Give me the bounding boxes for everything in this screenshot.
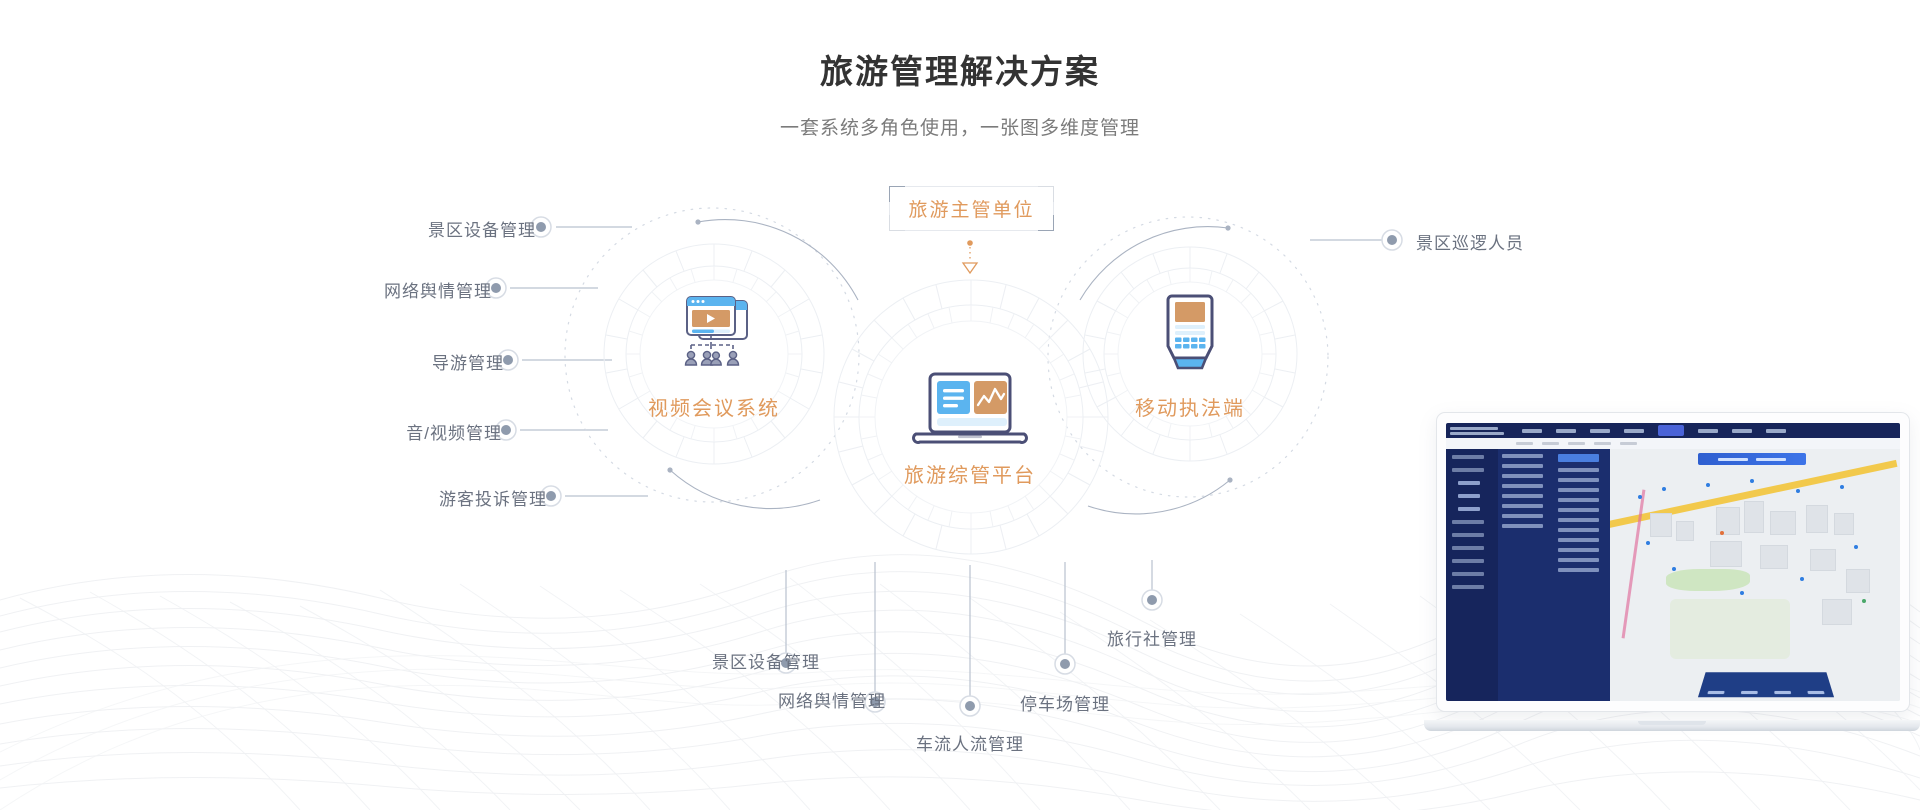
laptop-mockup [1424, 412, 1920, 757]
layer-item[interactable] [1558, 548, 1599, 552]
badge-corner-top-right [1037, 186, 1054, 203]
layer-item[interactable] [1558, 488, 1599, 492]
sidebar-item[interactable] [1458, 481, 1480, 485]
video-conference-icon [675, 295, 759, 380]
sidebar-item[interactable] [1452, 585, 1484, 589]
laptop-dashboard-icon [908, 372, 1032, 455]
dock-item[interactable] [1741, 691, 1758, 694]
layer-item[interactable] [1558, 468, 1599, 472]
sidebar-item[interactable] [1452, 455, 1484, 459]
layer-list-column [1554, 449, 1610, 701]
layer-item[interactable] [1558, 568, 1599, 572]
dock-item[interactable] [1774, 691, 1791, 694]
nav-item[interactable] [1522, 429, 1542, 433]
sidebar-item[interactable] [1452, 468, 1484, 472]
label-left-tour-guide: 导游管理 [308, 349, 504, 374]
dashboard-layer-panel [1498, 449, 1610, 701]
dashboard-body [1446, 449, 1900, 701]
dashboard-tab[interactable] [1620, 442, 1637, 445]
layer-tree-column [1498, 449, 1554, 701]
nav-item[interactable] [1590, 429, 1610, 433]
dashboard-sidebar [1446, 449, 1498, 701]
dock-item[interactable] [1707, 691, 1724, 694]
dashboard-tab-strip [1446, 438, 1900, 449]
layer-tree-item[interactable] [1502, 454, 1543, 458]
authority-badge: 旅游主管单位 [889, 186, 1054, 231]
dashboard-tab[interactable] [1542, 442, 1559, 445]
authority-badge-label: 旅游主管单位 [908, 195, 1034, 222]
badge-corner-bottom-left [889, 214, 906, 231]
label-bottom-travel-agency: 旅行社管理 [1042, 625, 1262, 650]
nav-item[interactable] [1698, 429, 1718, 433]
badge-corner-top-left [889, 186, 906, 203]
connector-dot [1055, 654, 1075, 674]
label-bottom-traffic-flow: 车流人流管理 [860, 730, 1080, 755]
layer-tree-item[interactable] [1502, 464, 1543, 468]
layer-item[interactable] [1558, 518, 1599, 522]
sidebar-item[interactable] [1452, 546, 1484, 550]
dashboard-tab[interactable] [1516, 442, 1533, 445]
sidebar-item[interactable] [1452, 559, 1484, 563]
node-label-tourism-platform: 旅游综管平台 [870, 459, 1070, 488]
layer-tree-item[interactable] [1502, 524, 1543, 528]
badge-edge-bottom [905, 230, 1038, 231]
laptop-lid [1436, 412, 1910, 712]
layer-item[interactable] [1558, 508, 1599, 512]
nav-item[interactable] [1766, 429, 1786, 433]
sidebar-item[interactable] [1452, 520, 1484, 524]
badge-corner-bottom-right [1037, 214, 1054, 231]
layer-item[interactable] [1558, 498, 1599, 502]
dashboard-tab[interactable] [1594, 442, 1611, 445]
layer-tree-item[interactable] [1502, 474, 1543, 478]
layer-tree-item[interactable] [1502, 494, 1543, 498]
badge-edge-left [889, 202, 890, 215]
connector-dot [1142, 590, 1162, 610]
sidebar-item[interactable] [1458, 507, 1480, 511]
sidebar-item[interactable] [1452, 572, 1484, 576]
layer-item[interactable] [1558, 528, 1599, 532]
sidebar-item[interactable] [1458, 494, 1480, 498]
map-action-dock[interactable] [1698, 672, 1834, 697]
layer-tree-item[interactable] [1502, 504, 1543, 508]
layer-item[interactable] [1558, 558, 1599, 562]
dashboard-tab[interactable] [1568, 442, 1585, 445]
page-subtitle: 一套系统多角色使用，一张图多维度管理 [0, 93, 1920, 140]
dashboard-top-nav [1446, 423, 1900, 438]
badge-edge-right [1053, 202, 1054, 215]
label-left-scenic-equipment: 景区设备管理 [340, 216, 536, 241]
layer-item[interactable] [1558, 538, 1599, 542]
label-left-public-opinion: 网络舆情管理 [296, 277, 492, 302]
sidebar-item[interactable] [1452, 533, 1484, 537]
page-title: 旅游管理解决方案 [0, 0, 1920, 93]
dashboard-map-canvas[interactable] [1610, 449, 1900, 701]
label-bottom-scenic-equipment: 景区设备管理 [666, 648, 866, 673]
node-label-mobile-enforcement: 移动执法端 [1090, 392, 1290, 421]
badge-edge-top [905, 186, 1038, 187]
dashboard-nav-items [1512, 423, 1786, 438]
label-right-scenic-patrol: 景区巡逻人员 [1416, 229, 1636, 254]
map-view-toggle-bar[interactable] [1698, 453, 1806, 465]
nav-item[interactable] [1556, 429, 1576, 433]
layer-tree-item[interactable] [1502, 484, 1543, 488]
node-label-video-conference: 视频会议系统 [614, 392, 814, 421]
handheld-device-icon [1158, 292, 1222, 381]
connector-dot [1382, 230, 1402, 250]
nav-item[interactable] [1624, 429, 1644, 433]
solution-diagram-page: 旅游管理解决方案 一套系统多角色使用，一张图多维度管理 [0, 0, 1920, 810]
nav-item[interactable] [1732, 429, 1752, 433]
laptop-screen [1446, 423, 1900, 701]
label-left-tourist-complaint: 游客投诉管理 [351, 485, 547, 510]
page-header: 旅游管理解决方案 一套系统多角色使用，一张图多维度管理 [0, 0, 1920, 140]
dashboard-logo [1446, 423, 1512, 438]
nav-item-active[interactable] [1658, 425, 1684, 436]
label-bottom-parking: 停车场管理 [955, 690, 1175, 715]
label-bottom-public-opinion: 网络舆情管理 [722, 687, 942, 712]
layer-item[interactable] [1558, 478, 1599, 482]
dock-item[interactable] [1807, 691, 1824, 694]
layer-item-selected[interactable] [1558, 454, 1599, 462]
label-left-audio-video: 音/视频管理 [306, 419, 502, 444]
tourism-map-dashboard-screenshot [1446, 423, 1900, 701]
laptop-notch [1638, 721, 1706, 725]
layer-tree-item[interactable] [1502, 514, 1543, 518]
